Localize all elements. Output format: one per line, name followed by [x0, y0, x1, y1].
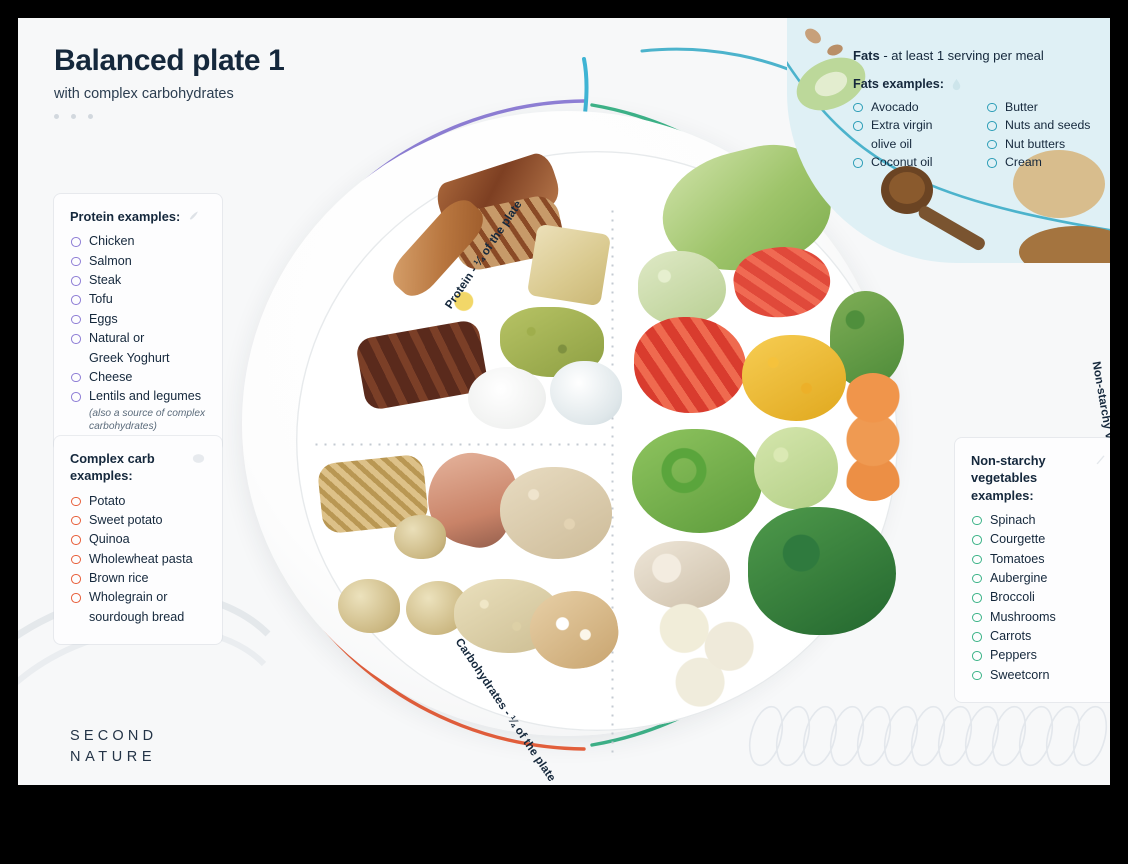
- card-vegetable-examples: Non-starchy vegetables examples: Spinach…: [955, 438, 1110, 702]
- list-item-note: (also a source of complex carbohydrates): [89, 407, 206, 434]
- list-item: Mushrooms: [971, 609, 1109, 627]
- food-spinach: [748, 507, 896, 635]
- food-potato-1: [394, 515, 446, 559]
- fats-column-left: Avocado Extra virgin olive oil Coconut o…: [853, 99, 973, 173]
- list-item: Spinach: [971, 512, 1109, 530]
- brand-logo: SECOND NATURE: [70, 726, 157, 768]
- list-item: Extra virgin: [853, 117, 973, 134]
- food-aubergine-slices: [642, 597, 774, 709]
- card-carb-list: Potato Sweet potato Quinoa Wholewheat pa…: [70, 493, 206, 627]
- list-item: Salmon: [70, 253, 206, 271]
- food-tofu-cubes: [527, 224, 611, 307]
- list-item: Wholewheat pasta: [70, 551, 206, 569]
- food-mixed-nuts: [1019, 226, 1110, 263]
- list-item: Sweetcorn: [971, 667, 1109, 685]
- fats-subtitle: Fats examples:: [853, 76, 1110, 92]
- list-item: Quinoa: [70, 531, 206, 549]
- dot-3: [88, 114, 93, 119]
- list-item: Courgette: [971, 531, 1109, 549]
- card-protein-list: Chicken Salmon Steak Tofu Eggs Natural o…: [70, 233, 206, 433]
- list-item-continuation: olive oil: [853, 136, 973, 153]
- food-greek-yoghurt: [468, 367, 546, 429]
- food-green-peppers-sliced: [632, 429, 762, 533]
- food-celery: [754, 427, 838, 509]
- panel-fats: Fats - at least 1 serving per meal Fats …: [787, 18, 1110, 263]
- potato-icon: [191, 451, 206, 466]
- list-item-continuation: Greek Yoghurt: [70, 350, 206, 368]
- list-item: Cheese: [70, 369, 206, 387]
- page-title: Balanced plate 1: [54, 44, 284, 77]
- fats-columns: Avocado Extra virgin olive oil Coconut o…: [853, 99, 1110, 173]
- list-item: Tofu: [70, 291, 206, 309]
- list-item: Potato: [70, 493, 206, 511]
- list-item: Tomatoes: [971, 551, 1109, 569]
- food-brown-rice: [500, 467, 612, 559]
- card-protein-title-text: Protein examples:: [70, 208, 180, 225]
- food-sweetcorn: [742, 335, 846, 421]
- list-item: Nut butters: [987, 136, 1110, 153]
- list-item: Avocado: [853, 99, 973, 116]
- list-item: Natural or: [70, 330, 206, 348]
- food-courgette: [638, 251, 726, 325]
- food-cashew-2: [826, 43, 844, 58]
- list-item: Cream: [987, 154, 1110, 171]
- list-item: Broccoli: [971, 589, 1109, 607]
- list-item: Nuts and seeds: [987, 117, 1110, 134]
- infographic-canvas: Balanced plate 1 with complex carbohydra…: [18, 18, 1110, 785]
- list-item: Steak: [70, 272, 206, 290]
- list-item: Brown rice: [70, 570, 206, 588]
- list-item: Lentils and legumes (also a source of co…: [70, 388, 206, 433]
- food-red-peppers-diced: [634, 317, 746, 413]
- card-veg-list: Spinach Courgette Tomatoes Aubergine Bro…: [971, 512, 1109, 685]
- list-item: Sweet potato: [70, 512, 206, 530]
- list-item: Carrots: [971, 628, 1109, 646]
- plate-divider-vertical: [611, 207, 614, 755]
- list-item: Coconut oil: [853, 154, 973, 171]
- dot-2: [71, 114, 76, 119]
- logo-line-2: NATURE: [70, 747, 157, 768]
- list-item: Aubergine: [971, 570, 1109, 588]
- food-cashew-1: [802, 26, 824, 47]
- list-item: Butter: [987, 99, 1110, 116]
- fats-heading-rest: - at least 1 serving per meal: [880, 48, 1044, 63]
- list-item: Eggs: [70, 311, 206, 329]
- list-item: Peppers: [971, 647, 1109, 665]
- card-carb-title-text: Complex carb examples:: [70, 450, 185, 485]
- card-protein-title: Protein examples:: [70, 208, 206, 225]
- food-carrot-slices: [842, 373, 904, 501]
- fats-column-right: Butter Nuts and seeds Nut butters Cream: [987, 99, 1110, 173]
- list-item-continuation: sourdough bread: [70, 609, 206, 627]
- carrot-icon: [1094, 453, 1109, 468]
- fats-content: Fats - at least 1 serving per meal Fats …: [853, 48, 1110, 173]
- card-veg-title: Non-starchy vegetables examples:: [971, 452, 1109, 504]
- fats-heading: Fats - at least 1 serving per meal: [853, 48, 1110, 65]
- dot-1: [54, 114, 59, 119]
- fats-heading-bold: Fats: [853, 48, 880, 63]
- logo-line-1: SECOND: [70, 726, 157, 747]
- oil-drop-icon: [949, 77, 964, 92]
- food-wooden-spoon-handle: [917, 204, 988, 252]
- card-carb-title: Complex carb examples:: [70, 450, 206, 485]
- list-item: Wholegrain or: [70, 589, 206, 607]
- card-veg-title-text: Non-starchy vegetables examples:: [971, 452, 1088, 504]
- fats-subtitle-text: Fats examples:: [853, 77, 944, 91]
- list-item-label: Lentils and legumes: [89, 389, 201, 403]
- list-item: Chicken: [70, 233, 206, 251]
- card-protein-examples: Protein examples: Chicken Salmon Steak T…: [54, 194, 222, 451]
- card-complex-carb-examples: Complex carb examples: Potato Sweet pota…: [54, 436, 222, 644]
- food-wooden-spoon-oil: [889, 172, 925, 204]
- chicken-icon: [186, 209, 201, 224]
- plate-divider-horizontal: [312, 443, 612, 446]
- food-potato-2: [338, 579, 400, 633]
